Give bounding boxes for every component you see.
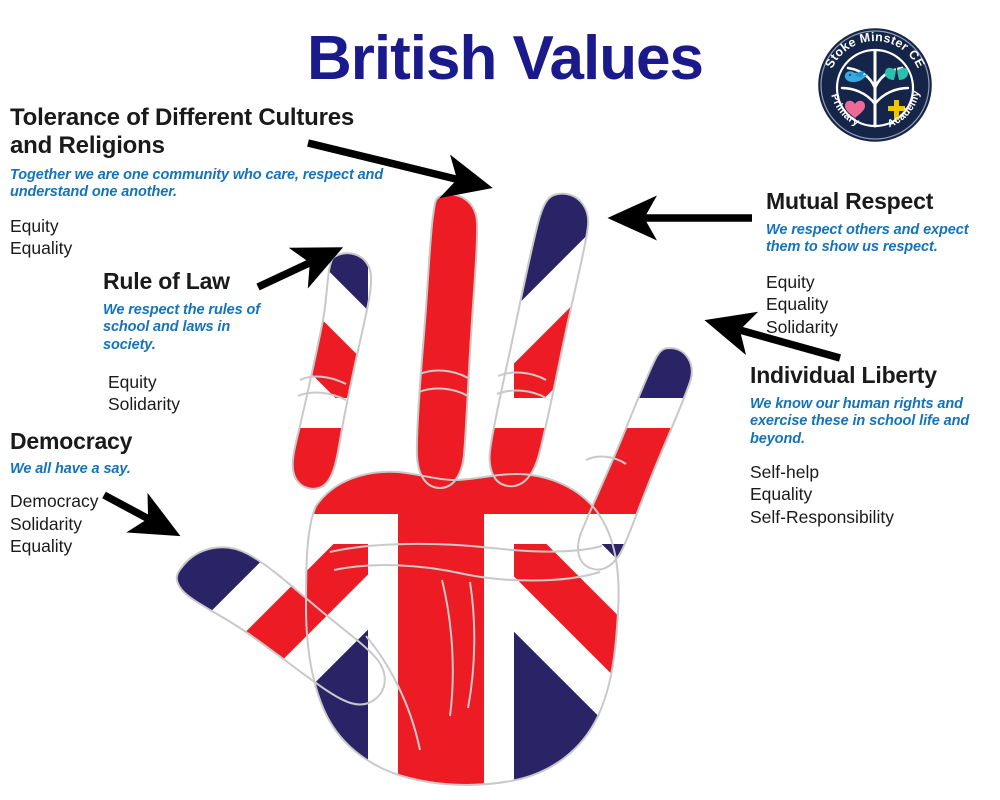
value-subtitle-rule-of-law: We respect the rules of school and laws … bbox=[103, 302, 343, 355]
value-title-tolerance: Tolerance of Different Cultures and Reli… bbox=[10, 104, 440, 160]
list-item: Democracy bbox=[10, 490, 260, 512]
page-title: British Values bbox=[265, 26, 745, 91]
value-list-tolerance: Equity Equality bbox=[10, 215, 440, 260]
value-list-rule-of-law: Equity Solidarity bbox=[103, 371, 343, 416]
value-list-mutual-respect: Equity Equality Solidarity bbox=[766, 271, 996, 338]
list-item: Equity bbox=[108, 371, 343, 393]
list-item: Equality bbox=[750, 483, 1000, 505]
value-subtitle-tolerance: Together we are one community who care, … bbox=[10, 167, 440, 202]
value-subtitle-democracy: We all have a say. bbox=[10, 461, 260, 479]
value-title-individual-liberty: Individual Liberty bbox=[750, 362, 1000, 389]
list-item: Equality bbox=[766, 293, 996, 315]
value-subtitle-mutual-respect: We respect others and expect them to sho… bbox=[766, 222, 996, 257]
value-block-individual-liberty: Individual Liberty We know our human rig… bbox=[750, 362, 1000, 528]
value-block-tolerance: Tolerance of Different Cultures and Reli… bbox=[10, 104, 440, 260]
list-item: Self-help bbox=[750, 461, 1000, 483]
list-item: Solidarity bbox=[10, 513, 260, 535]
list-item: Equity bbox=[766, 271, 996, 293]
value-title-democracy: Democracy bbox=[10, 428, 260, 455]
list-item: Equity bbox=[10, 215, 440, 237]
value-block-mutual-respect: Mutual Respect We respect others and exp… bbox=[766, 188, 996, 338]
value-block-rule-of-law: Rule of Law We respect the rules of scho… bbox=[103, 268, 343, 416]
value-subtitle-individual-liberty: We know our human rights and exercise th… bbox=[750, 396, 1000, 449]
list-item: Equality bbox=[10, 237, 440, 259]
school-logo: Stoke Minster CE Primary Academy bbox=[808, 18, 942, 152]
list-item: Self-Responsibility bbox=[750, 506, 1000, 528]
list-item: Solidarity bbox=[766, 316, 996, 338]
value-block-democracy: Democracy We all have a say. Democracy S… bbox=[10, 428, 260, 558]
list-item: Solidarity bbox=[108, 393, 343, 415]
value-title-mutual-respect: Mutual Respect bbox=[766, 188, 996, 215]
list-item: Equality bbox=[10, 535, 260, 557]
value-title-rule-of-law: Rule of Law bbox=[103, 268, 343, 295]
value-list-individual-liberty: Self-help Equality Self-Responsibility bbox=[750, 461, 1000, 528]
poster-canvas: British Values bbox=[0, 0, 1000, 800]
value-list-democracy: Democracy Solidarity Equality bbox=[10, 490, 260, 557]
